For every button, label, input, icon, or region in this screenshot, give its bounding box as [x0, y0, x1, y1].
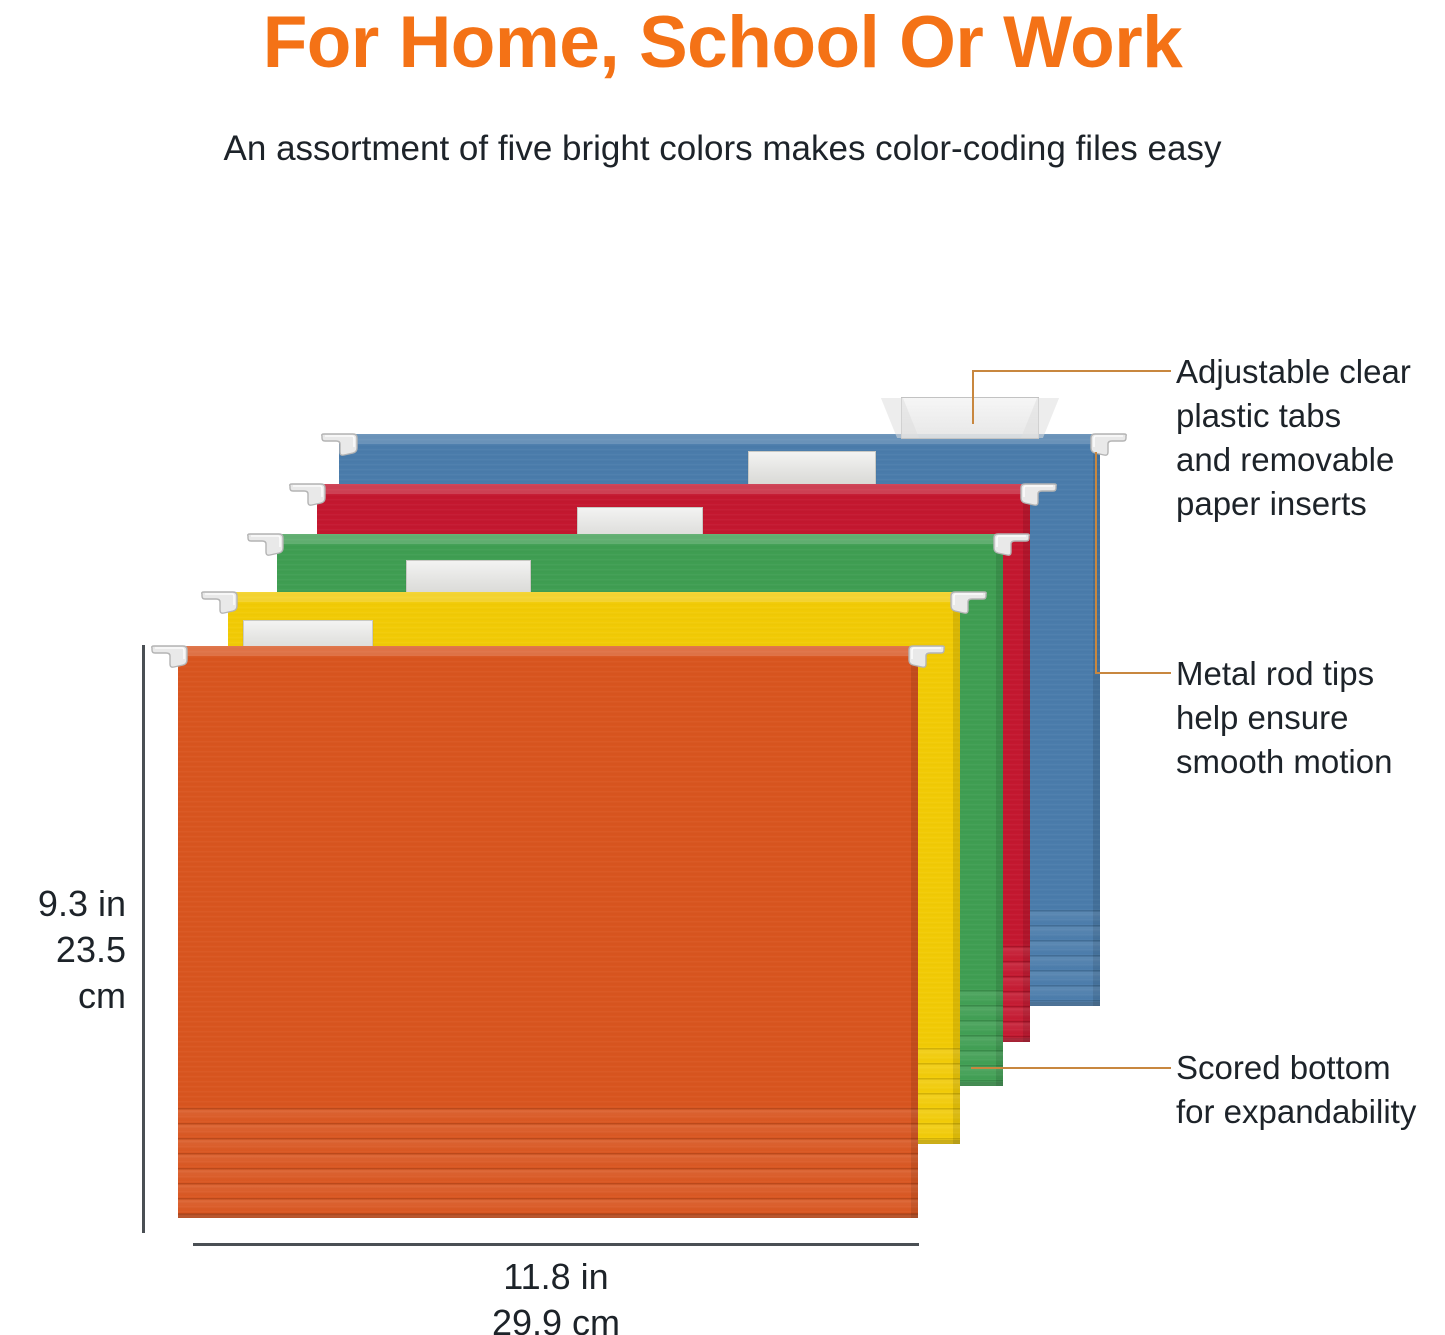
folder-red-top-edge [317, 484, 1030, 494]
product-infographic: For Home, School Or Work An assortment o… [0, 0, 1445, 1335]
leader-line-metal-rod-vertical [1095, 452, 1097, 674]
dimension-line-height [142, 645, 145, 1233]
dimension-line-width [193, 1243, 919, 1246]
dimension-label-height: 9.3 in 23.5 cm [0, 881, 126, 1019]
paper-insert-green [406, 560, 531, 596]
folder-orange-body [178, 646, 918, 1218]
folder-orange-bottom-edge [178, 1214, 918, 1218]
leader-line-plastic-tabs-vertical [972, 370, 974, 424]
plastic-tab-right-wing [1021, 398, 1059, 438]
folder-green-right-edge [996, 534, 1003, 1086]
leader-line-scored-bottom-horizontal [971, 1067, 1171, 1069]
folder-orange-right-edge [911, 646, 918, 1218]
leader-line-metal-rod-horizontal [1095, 672, 1171, 674]
callout-plastic-tabs: Adjustable clear plastic tabs and remova… [1176, 350, 1438, 526]
folder-yellow-top-edge [228, 592, 960, 602]
dimension-label-width: 11.8 in 29.9 cm [193, 1254, 919, 1335]
leader-line-plastic-tabs-horizontal [972, 370, 1171, 372]
folder-orange-top-edge [178, 646, 918, 656]
clear-plastic-tab [901, 397, 1039, 439]
callout-metal-rod-tips: Metal rod tips help ensure smooth motion [1176, 652, 1438, 784]
folder-red-right-edge [1023, 484, 1030, 1042]
folder-yellow-right-edge [953, 592, 960, 1144]
folder-orange [178, 646, 918, 1218]
folder-green-top-edge [277, 534, 1003, 544]
plastic-tab-left-wing [881, 398, 919, 438]
paper-insert-blue [748, 451, 876, 486]
callout-scored-bottom: Scored bottom for expandability [1176, 1046, 1444, 1134]
